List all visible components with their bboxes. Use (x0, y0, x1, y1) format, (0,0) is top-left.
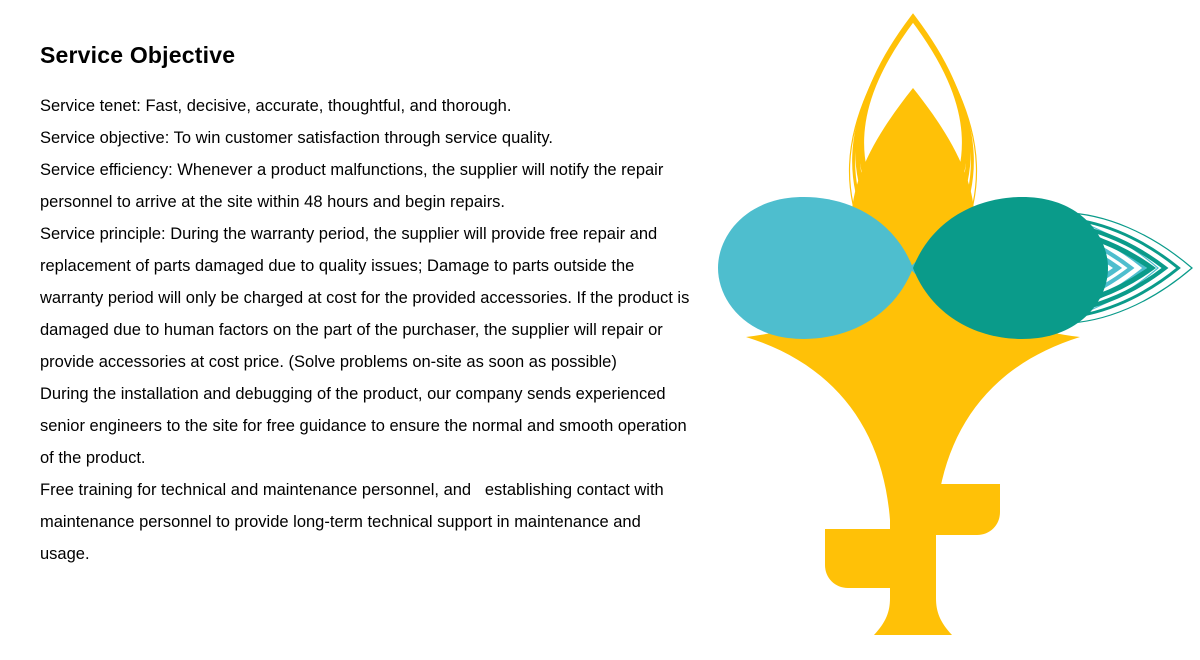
page-title: Service Objective (40, 42, 690, 68)
sprout-flower-logo (660, 0, 1200, 660)
leaf-left (825, 529, 895, 588)
paragraph-service-principle: Service principle: During the warranty p… (40, 218, 690, 378)
paragraph-service-tenet: Service tenet: Fast, decisive, accurate,… (40, 90, 690, 122)
paragraph-training: Free training for technical and maintena… (40, 474, 690, 570)
slide-root: Service Objective Service tenet: Fast, d… (0, 0, 1200, 660)
leaf-right (931, 484, 1000, 535)
paragraph-service-objective: Service objective: To win customer satis… (40, 122, 690, 154)
paragraph-installation: During the installation and debugging of… (40, 378, 690, 474)
logo-svg (660, 0, 1200, 660)
text-column: Service Objective Service tenet: Fast, d… (40, 42, 690, 570)
paragraph-service-efficiency: Service efficiency: Whenever a product m… (40, 154, 690, 218)
